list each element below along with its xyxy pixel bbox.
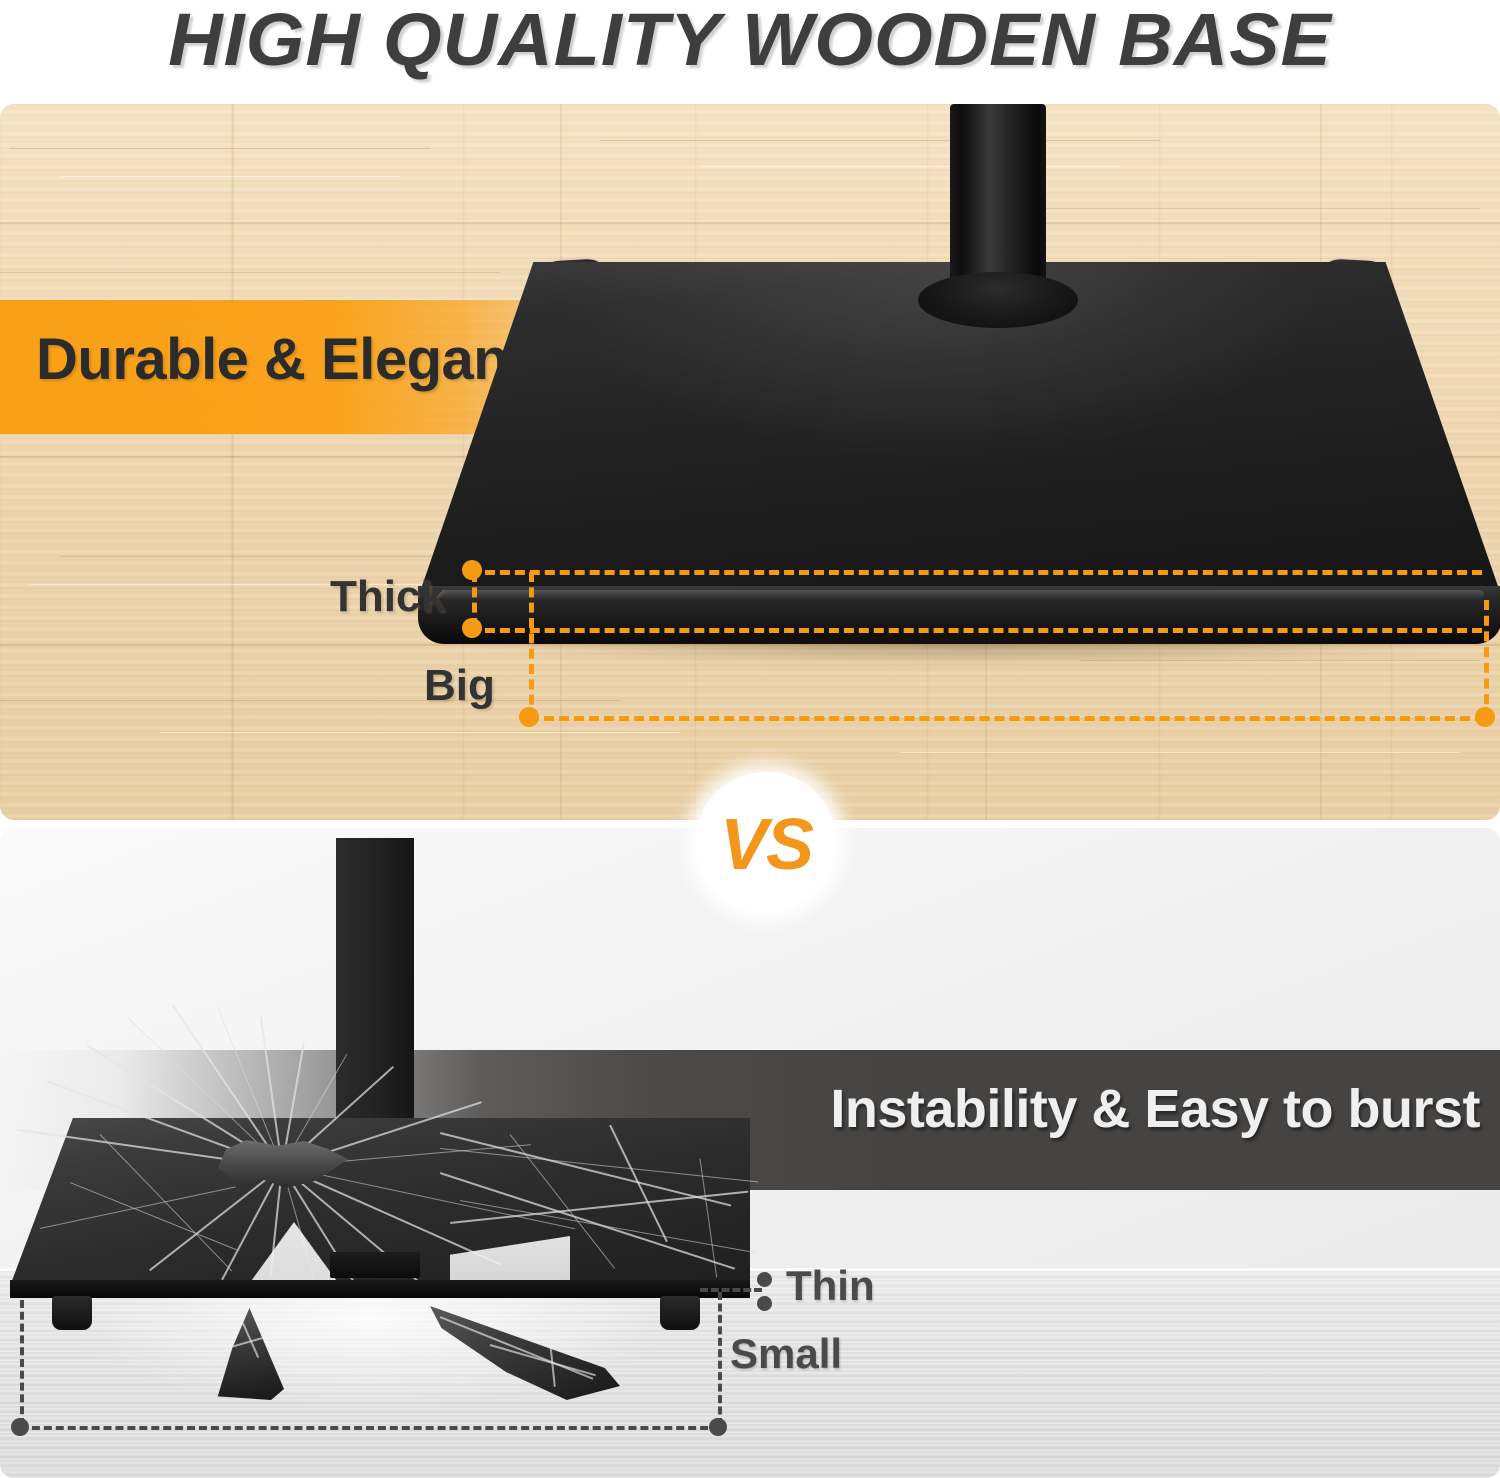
small-right-guide-line <box>718 1292 722 1426</box>
thick-annotation-label: Thick <box>330 572 445 622</box>
instability-banner-label: Instability & Easy to burst <box>830 1078 1480 1140</box>
wood-grain-line <box>160 732 680 733</box>
base-plate-drop-shadow <box>460 638 1470 664</box>
cylindrical-pole <box>950 104 1046 300</box>
wood-grain-line <box>10 148 430 149</box>
small-endpoint-dot-left <box>11 1418 29 1436</box>
wood-grain-line <box>600 140 1160 141</box>
small-left-guide-line <box>20 1300 24 1426</box>
thick-endpoint-dot-bottom <box>462 618 482 638</box>
thick-upper-guide-line <box>470 570 1482 575</box>
big-measure-line <box>529 716 1485 721</box>
wood-grain-line <box>0 700 620 701</box>
vs-badge-label: VS <box>695 772 837 914</box>
wood-grain-line <box>900 752 1460 753</box>
big-annotation-label: Big <box>424 661 495 711</box>
big-right-guide-line <box>1484 600 1489 720</box>
big-endpoint-dot-right <box>1475 707 1495 727</box>
shattered-glass-base-product <box>10 1118 750 1328</box>
square-pole-foot <box>330 1252 420 1278</box>
small-annotation-label: Small <box>730 1330 842 1378</box>
glass-base-thin-edge <box>10 1280 750 1298</box>
thin-measure-line <box>700 1288 762 1292</box>
thin-annotation-label: Thin <box>786 1262 875 1310</box>
base-plate-edge-highlight <box>438 590 1484 599</box>
small-endpoint-dot-right <box>709 1418 727 1436</box>
glass-base-foot-right <box>660 1296 700 1330</box>
page-title: HIGH QUALITY WOODEN BASE <box>0 0 1500 86</box>
big-left-guide-line <box>529 572 534 720</box>
infographic-canvas: HIGH QUALITY WOODEN BASE Durable & Elega… <box>0 0 1500 1478</box>
wood-plank-seam <box>232 104 234 820</box>
glass-base-foot-left <box>52 1296 92 1330</box>
wood-grain-line <box>60 556 480 557</box>
small-measure-line <box>20 1426 720 1430</box>
thick-endpoint-dot-top <box>462 560 482 580</box>
thin-endpoint-dot-bottom <box>757 1296 772 1311</box>
wood-grain-line <box>60 176 400 177</box>
thick-lower-guide-line <box>470 628 1482 633</box>
pole-collar <box>918 272 1078 328</box>
big-endpoint-dot-left <box>519 707 539 727</box>
thin-endpoint-dot-top <box>757 1272 772 1287</box>
